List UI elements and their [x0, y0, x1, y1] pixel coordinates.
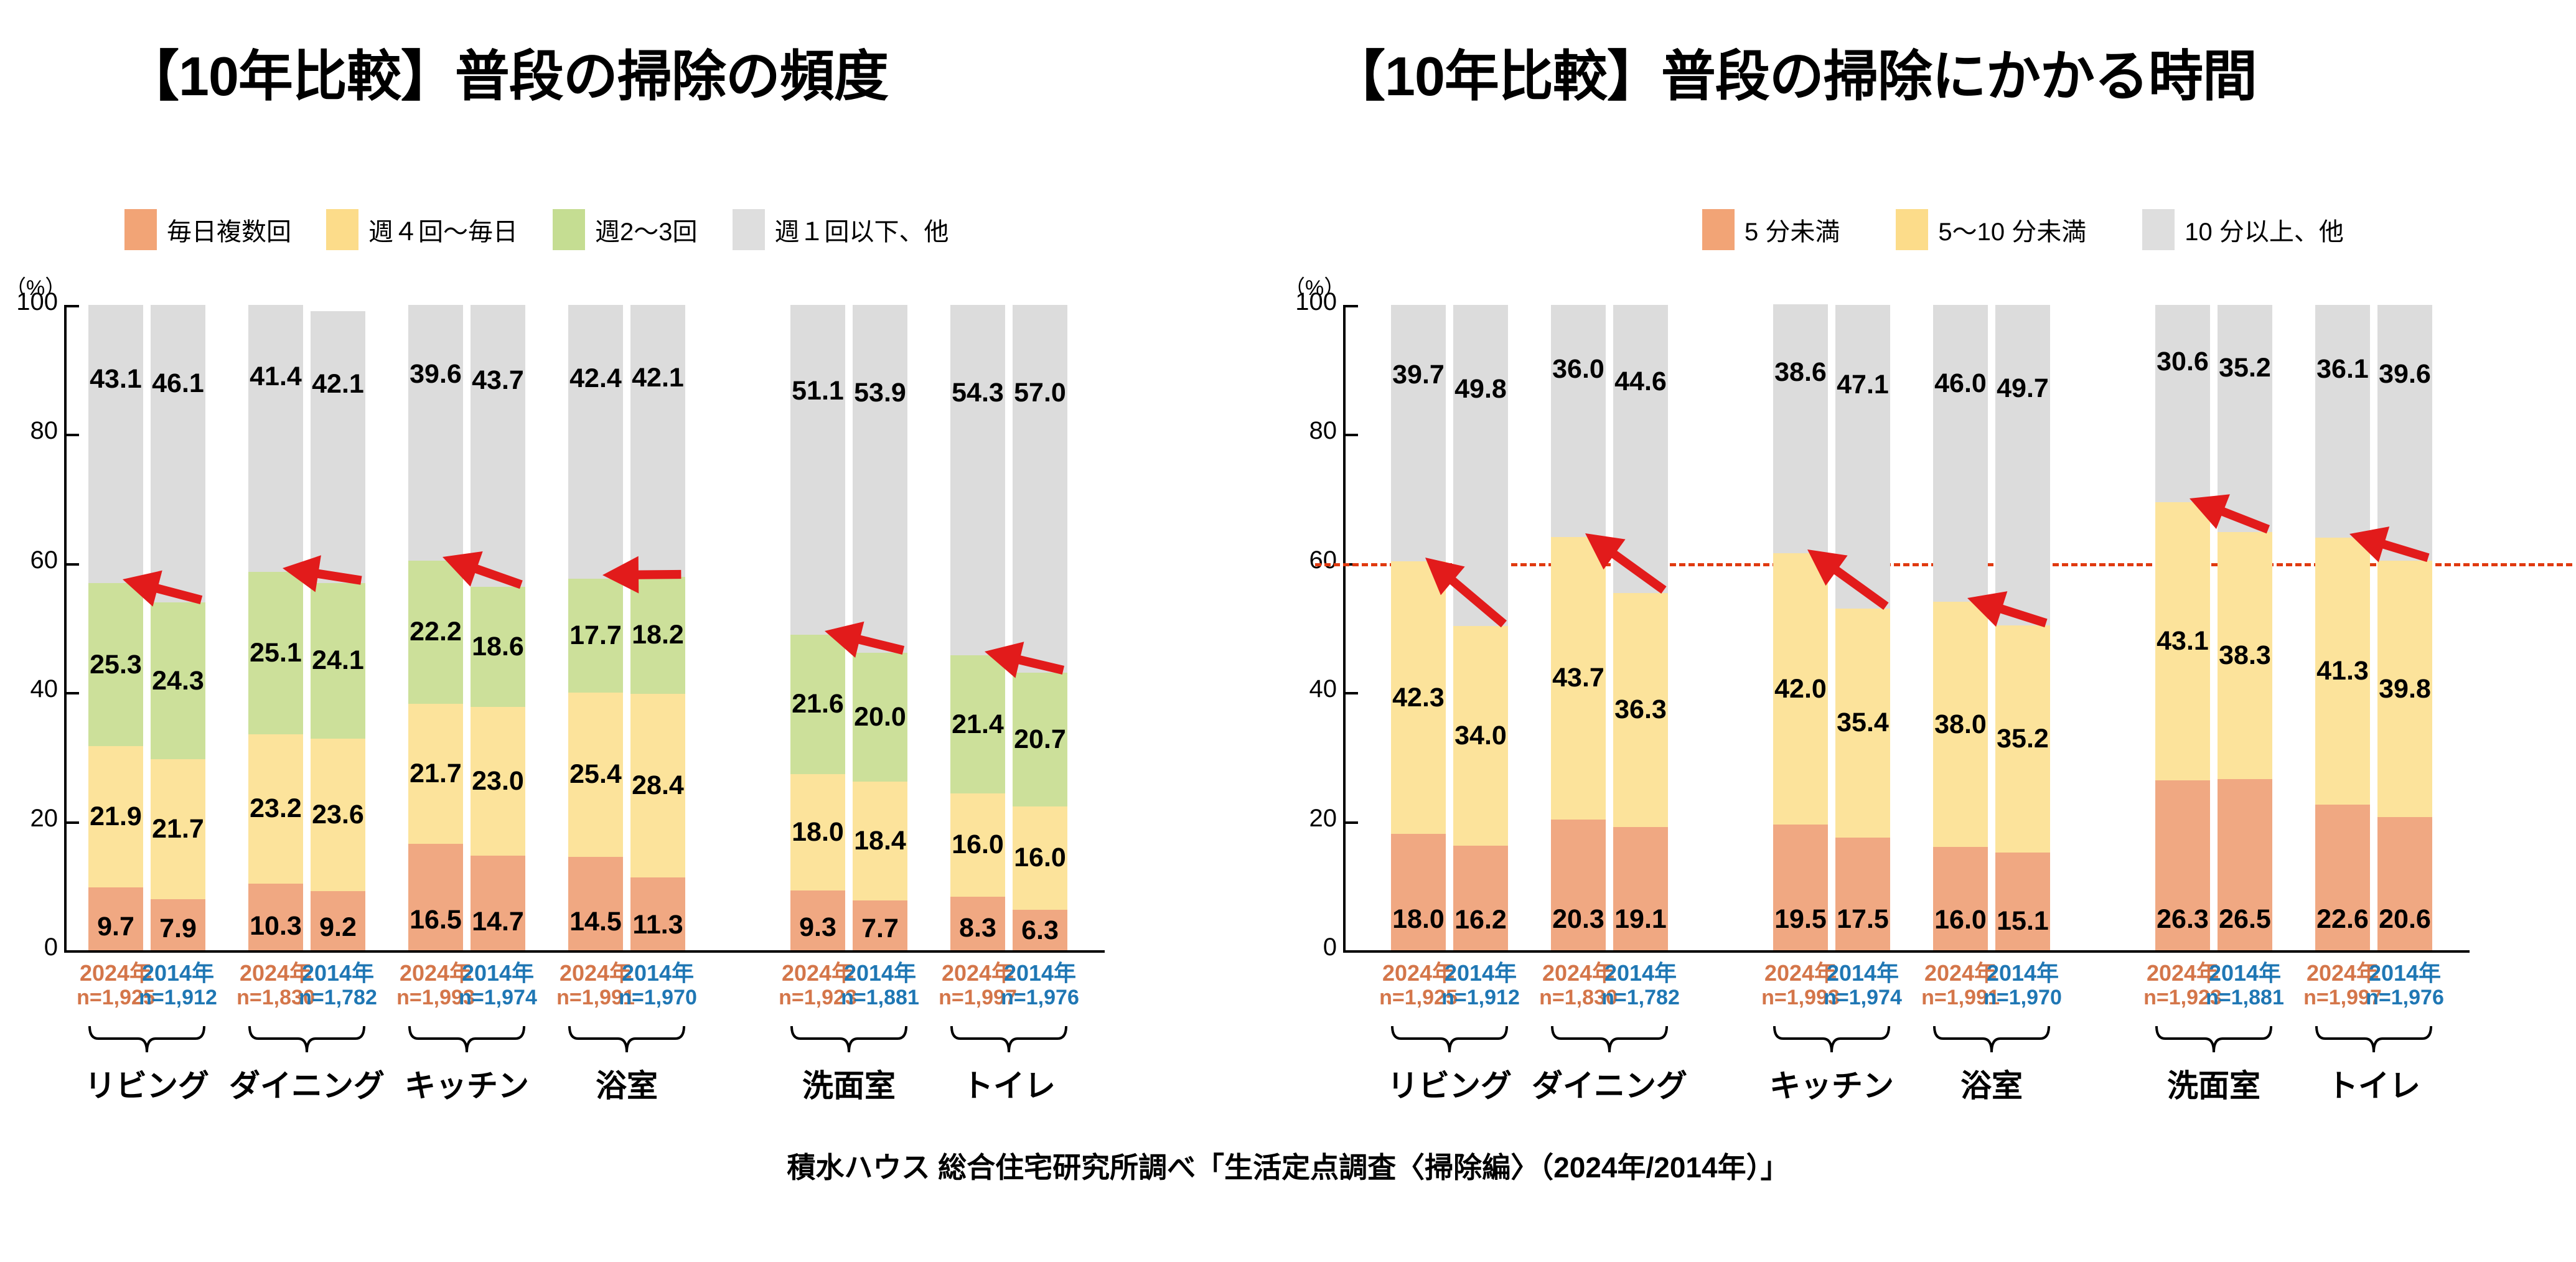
- bar-segment: 42.1: [311, 311, 365, 583]
- bar-segment: 36.3: [1613, 593, 1668, 827]
- x-axis-column-label: 2014年n=1,782: [1594, 960, 1687, 1010]
- legend-item-right-1: 5〜10 分未満: [1896, 209, 2086, 250]
- legend-swatch-icon: [1702, 209, 1735, 250]
- bar-segment: 38.3: [2218, 532, 2272, 779]
- bar-segment: 16.2: [1453, 846, 1508, 950]
- infographic-root: 【10年比較】普段の掃除の頻度 【10年比較】普段の掃除にかかる時間 毎日複数回…: [0, 0, 2576, 1262]
- stacked-bar: 20.343.736.0: [1551, 305, 1606, 950]
- bar-segment: 35.2: [2218, 305, 2272, 532]
- bar-segment: 28.4: [630, 694, 685, 877]
- bar-segment-value: 53.9: [854, 380, 906, 406]
- category-name-label: ダイニング: [1514, 1061, 1705, 1106]
- bar-segment-value: 43.7: [472, 367, 524, 394]
- x-axis-sample-size-label: n=1,782: [291, 986, 385, 1010]
- bar-segment: 9.2: [311, 891, 365, 950]
- bar-segment-value: 19.1: [1614, 906, 1667, 933]
- bar-segment: 39.8: [2377, 561, 2432, 818]
- x-axis-line: [1343, 950, 2470, 953]
- bar-segment-value: 20.0: [854, 704, 906, 731]
- bar-segment-value: 38.0: [1934, 711, 1987, 738]
- bar-segment: 35.4: [1835, 609, 1890, 837]
- x-axis-year-label: 2014年: [131, 960, 225, 986]
- x-axis-column-label: 2014年n=1,782: [291, 960, 385, 1010]
- legend-item-left-2: 週2〜3回: [553, 209, 698, 250]
- x-axis-column-label: 2014年n=1,912: [131, 960, 225, 1010]
- legend-item-label: 5〜10 分未満: [1938, 212, 2086, 248]
- bar-segment: 16.0: [1013, 806, 1067, 910]
- category-brace: [1773, 1022, 1890, 1061]
- bar-segment-value: 42.4: [569, 365, 622, 392]
- bar-segment-value: 36.3: [1614, 696, 1667, 723]
- x-axis-sample-size-label: n=1,976: [2358, 986, 2452, 1010]
- y-axis-tick-label: 0: [2, 933, 58, 961]
- y-axis-tick-label: 40: [1281, 675, 1337, 703]
- bar-segment: 38.0: [1933, 602, 1988, 847]
- bar-segment: 41.3: [2315, 538, 2370, 804]
- source-note: 積水ハウス 総合住宅研究所調べ「生活定点調査〈掃除編〉（2024年/2014年）…: [0, 1145, 2576, 1186]
- bar-segment: 16.5: [408, 844, 463, 950]
- x-axis-year-label: 2014年: [993, 960, 1087, 986]
- x-axis-sample-size-label: n=1,881: [2198, 986, 2292, 1010]
- stacked-bar: 26.343.130.6: [2155, 305, 2210, 950]
- stacked-bar: 16.234.049.8: [1453, 305, 1508, 950]
- stacked-bar: 15.135.249.7: [1995, 305, 2050, 950]
- bar-segment: 30.6: [2155, 305, 2210, 502]
- y-axis-tick-label: 40: [2, 675, 58, 703]
- x-axis-year-label: 2014年: [1976, 960, 2069, 986]
- bar-segment-value: 51.1: [792, 378, 844, 404]
- bar-segment-value: 23.0: [472, 768, 524, 795]
- bar-segment: 49.8: [1453, 305, 1508, 626]
- stacked-bar: 16.521.722.239.6: [408, 305, 463, 950]
- bar-segment: 25.4: [568, 693, 623, 856]
- stacked-bar: 18.042.339.7: [1391, 305, 1446, 950]
- x-axis-year-label: 2014年: [1594, 960, 1687, 986]
- x-axis-sample-size-label: n=1,976: [993, 986, 1087, 1010]
- y-axis-tick: [1343, 821, 1358, 824]
- bar-segment: 25.3: [88, 583, 143, 746]
- bar-segment: 14.7: [471, 856, 525, 950]
- bar-segment: 42.3: [1391, 561, 1446, 834]
- stacked-bar: 9.721.925.343.1: [88, 305, 143, 950]
- legend-item-label: 週１回以下、他: [775, 212, 949, 248]
- bar-segment: 21.7: [151, 759, 205, 899]
- bar-segment: 42.4: [568, 305, 623, 579]
- stacked-bar: 22.641.336.1: [2315, 305, 2370, 950]
- bar-segment: 16.0: [950, 793, 1005, 897]
- bar-segment-value: 18.6: [472, 633, 524, 660]
- bar-segment-value: 22.2: [410, 619, 462, 645]
- y-axis-line: [1343, 305, 1346, 953]
- y-axis-tick: [64, 563, 79, 566]
- bar-segment-value: 21.4: [952, 711, 1004, 738]
- left-chart-plot: （%）1008060402009.721.925.343.17.921.724.…: [0, 268, 1288, 1077]
- bar-segment: 20.0: [853, 653, 907, 782]
- bar-segment: 15.1: [1995, 853, 2050, 950]
- bar-segment-value: 16.2: [1454, 907, 1507, 933]
- bar-segment: 8.3: [950, 897, 1005, 950]
- category-brace: [2315, 1022, 2432, 1061]
- bar-segment-value: 22.6: [2316, 906, 2369, 933]
- bar-segment: 53.9: [853, 305, 907, 653]
- category-name-label: 浴室: [531, 1061, 723, 1106]
- bar-segment-value: 41.3: [2316, 658, 2369, 685]
- bar-segment: 39.6: [408, 305, 463, 561]
- category-brace: [408, 1022, 525, 1061]
- bar-segment: 42.0: [1773, 553, 1828, 825]
- bar-segment-value: 24.1: [312, 647, 364, 674]
- y-axis-tick: [64, 821, 79, 824]
- bar-segment: 43.1: [2155, 502, 2210, 780]
- bar-segment: 7.7: [853, 900, 907, 950]
- bar-segment-value: 44.6: [1614, 368, 1667, 395]
- bar-segment-value: 43.1: [90, 366, 142, 393]
- bar-segment-value: 42.1: [312, 371, 364, 398]
- bar-segment-value: 25.3: [90, 652, 142, 678]
- bar-segment: 18.2: [630, 577, 685, 694]
- legend-item-right-0: 5 分未満: [1702, 209, 1840, 250]
- y-axis-tick-label: 100: [1281, 288, 1337, 316]
- bar-segment-value: 24.3: [152, 668, 204, 694]
- bar-segment-value: 46.1: [152, 370, 204, 397]
- legend-swatch-icon: [1896, 209, 1928, 250]
- bar-segment-value: 42.0: [1774, 676, 1827, 703]
- bar-segment-value: 42.1: [632, 365, 684, 391]
- left-chart-legend: 毎日複数回週４回〜毎日週2〜3回週１回以下、他: [124, 209, 984, 250]
- category-name-label: 浴室: [1896, 1061, 2087, 1106]
- legend-item-label: 毎日複数回: [167, 212, 291, 248]
- y-axis-tick: [1343, 434, 1358, 436]
- bar-segment: 21.4: [950, 655, 1005, 793]
- y-axis-tick-label: 0: [1281, 933, 1337, 961]
- x-axis-sample-size-label: n=1,974: [451, 986, 545, 1010]
- stacked-bar: 14.525.417.742.4: [568, 305, 623, 950]
- bar-segment: 43.7: [1551, 537, 1606, 819]
- bar-segment: 39.6: [2377, 305, 2432, 561]
- bar-segment: 42.1: [630, 305, 685, 577]
- x-axis-year-label: 2014年: [1816, 960, 1909, 986]
- bar-segment-value: 26.3: [2157, 906, 2209, 933]
- category-brace: [950, 1022, 1067, 1061]
- bar-segment-value: 46.0: [1934, 370, 1987, 397]
- x-axis-year-label: 2014年: [2198, 960, 2292, 986]
- bar-segment-value: 20.6: [2379, 906, 2431, 933]
- category-brace: [1933, 1022, 2050, 1061]
- category-name-label: トイレ: [913, 1061, 1105, 1106]
- bar-segment-value: 14.5: [569, 909, 622, 935]
- bar-segment: 54.3: [950, 305, 1005, 655]
- bar-segment-value: 39.6: [2379, 361, 2431, 388]
- stacked-bar: 19.542.038.6: [1773, 305, 1828, 950]
- bar-segment-value: 21.9: [90, 803, 142, 830]
- bar-segment: 17.5: [1835, 838, 1890, 950]
- bar-segment-value: 18.0: [1392, 906, 1445, 933]
- x-axis-line: [64, 950, 1105, 953]
- right-chart-title: 【10年比較】普段の掃除にかかる時間: [1331, 32, 2257, 111]
- bar-segment-value: 26.5: [2219, 906, 2271, 933]
- bar-segment-value: 10.3: [250, 913, 302, 940]
- bar-segment: 35.2: [1995, 625, 2050, 853]
- bar-segment-value: 18.2: [632, 622, 684, 648]
- bar-segment: 46.0: [1933, 305, 1988, 602]
- stacked-bar: 9.223.624.142.1: [311, 305, 365, 950]
- bar-segment: 22.2: [408, 561, 463, 704]
- x-axis-sample-size-label: n=1,970: [611, 986, 705, 1010]
- bar-segment-value: 25.1: [250, 640, 302, 666]
- bar-segment: 7.9: [151, 899, 205, 950]
- stacked-bar: 20.639.839.6: [2377, 305, 2432, 950]
- x-axis-sample-size-label: n=1,881: [833, 986, 927, 1010]
- bar-segment-value: 25.4: [569, 761, 622, 788]
- bar-segment-value: 43.7: [1552, 665, 1604, 691]
- legend-item-left-3: 週１回以下、他: [733, 209, 949, 250]
- bar-segment: 25.1: [248, 572, 303, 734]
- bar-segment-value: 9.7: [97, 914, 134, 940]
- bar-segment-value: 30.6: [2157, 348, 2209, 375]
- bar-segment: 46.1: [151, 305, 205, 602]
- stacked-bar: 7.718.420.053.9: [853, 305, 907, 950]
- bar-segment: 23.2: [248, 734, 303, 884]
- y-axis-tick-label: 80: [2, 417, 58, 445]
- bar-segment: 57.0: [1013, 305, 1067, 673]
- y-axis-tick-label: 80: [1281, 417, 1337, 445]
- legend-item-left-0: 毎日複数回: [124, 209, 291, 250]
- legend-item-left-1: 週４回〜毎日: [326, 209, 518, 250]
- bar-segment-value: 16.0: [1014, 844, 1066, 871]
- bar-segment-value: 54.3: [952, 380, 1004, 406]
- bar-segment-value: 16.0: [952, 831, 1004, 858]
- bar-segment: 36.1: [2315, 305, 2370, 538]
- legend-swatch-icon: [124, 209, 157, 250]
- bar-segment-value: 39.6: [410, 361, 462, 388]
- bar-segment-value: 38.6: [1774, 359, 1827, 386]
- bar-segment-value: 15.1: [1997, 908, 2049, 935]
- bar-segment: 10.3: [248, 884, 303, 950]
- bar-segment-value: 9.3: [799, 914, 836, 941]
- category-brace: [790, 1022, 907, 1061]
- x-axis-column-label: 2014年n=1,976: [993, 960, 1087, 1010]
- x-axis-year-label: 2014年: [833, 960, 927, 986]
- bar-segment-value: 11.3: [632, 912, 683, 938]
- x-axis-column-label: 2014年n=1,970: [611, 960, 705, 1010]
- stacked-bar: 10.323.225.141.4: [248, 305, 303, 950]
- bar-segment-value: 7.9: [159, 915, 197, 942]
- bar-segment-value: 14.7: [472, 909, 524, 935]
- bar-segment: 41.4: [248, 305, 303, 572]
- bar-segment: 43.7: [471, 305, 525, 587]
- x-axis-column-label: 2014年n=1,912: [1434, 960, 1527, 1010]
- bar-segment: 20.7: [1013, 673, 1067, 806]
- x-axis-year-label: 2014年: [291, 960, 385, 986]
- bar-segment-value: 18.4: [854, 828, 906, 854]
- bar-segment: 18.6: [471, 587, 525, 707]
- legend-item-label: 5 分未満: [1745, 212, 1840, 248]
- category-brace: [1551, 1022, 1668, 1061]
- stacked-bar: 14.723.018.643.7: [471, 305, 525, 950]
- bar-segment: 22.6: [2315, 805, 2370, 950]
- legend-swatch-icon: [326, 209, 358, 250]
- y-axis-tick-label: 60: [2, 546, 58, 574]
- y-axis-tick-label: 60: [1281, 546, 1337, 574]
- legend-swatch-icon: [733, 209, 765, 250]
- right-chart-legend: 5 分未満5〜10 分未満10 分以上、他: [1702, 209, 2400, 250]
- stacked-bar: 8.316.021.454.3: [950, 305, 1005, 950]
- bar-segment: 43.1: [88, 305, 143, 583]
- x-axis-year-label: 2014年: [451, 960, 545, 986]
- legend-item-right-2: 10 分以上、他: [2142, 209, 2344, 250]
- bar-segment-value: 20.7: [1014, 726, 1066, 753]
- bar-segment-value: 19.5: [1774, 906, 1827, 933]
- bar-segment: 20.3: [1551, 820, 1606, 951]
- bar-segment: 9.3: [790, 890, 845, 950]
- bar-segment-value: 42.3: [1392, 685, 1445, 711]
- category-brace: [88, 1022, 205, 1061]
- bar-segment-value: 35.4: [1837, 709, 1889, 736]
- y-axis-line: [64, 305, 67, 953]
- bar-segment-value: 43.1: [2157, 628, 2209, 655]
- left-chart-title: 【10年比較】普段の掃除の頻度: [124, 32, 888, 111]
- legend-swatch-icon: [553, 209, 585, 250]
- stacked-bar: 19.136.344.6: [1613, 305, 1668, 950]
- bar-segment-value: 20.3: [1552, 906, 1604, 933]
- bar-segment-value: 21.7: [152, 816, 204, 843]
- bar-segment-value: 49.8: [1454, 376, 1507, 403]
- x-axis-year-label: 2014年: [1434, 960, 1527, 986]
- x-axis-year-label: 2014年: [2358, 960, 2452, 986]
- x-axis-column-label: 2014年n=1,970: [1976, 960, 2069, 1010]
- bar-segment-value: 57.0: [1014, 380, 1066, 406]
- bar-segment-value: 49.7: [1997, 375, 2049, 402]
- x-axis-column-label: 2014年n=1,974: [451, 960, 545, 1010]
- bar-segment: 26.3: [2155, 780, 2210, 950]
- bar-segment-value: 39.8: [2379, 676, 2431, 703]
- bar-segment: 18.4: [853, 782, 907, 900]
- category-brace: [248, 1022, 365, 1061]
- category-brace: [1391, 1022, 1508, 1061]
- bar-segment: 23.0: [471, 707, 525, 856]
- bar-segment-value: 28.4: [632, 772, 684, 799]
- x-axis-sample-size-label: n=1,974: [1816, 986, 1909, 1010]
- x-axis-sample-size-label: n=1,912: [1434, 986, 1527, 1010]
- bar-segment-value: 47.1: [1837, 372, 1889, 398]
- bar-segment: 11.3: [630, 877, 685, 950]
- x-axis-column-label: 2014年n=1,976: [2358, 960, 2452, 1010]
- stacked-bar: 6.316.020.757.0: [1013, 305, 1067, 950]
- bar-segment: 49.7: [1995, 305, 2050, 625]
- bar-segment-value: 41.4: [250, 363, 302, 390]
- bar-segment: 36.0: [1551, 305, 1606, 537]
- category-brace: [2155, 1022, 2272, 1061]
- bar-segment: 9.7: [88, 887, 143, 950]
- bar-segment-value: 36.1: [2316, 356, 2369, 383]
- category-name-label: トイレ: [2278, 1061, 2470, 1106]
- bar-segment-value: 17.5: [1837, 906, 1889, 933]
- bar-segment-value: 35.2: [2219, 355, 2271, 381]
- bar-segment: 26.5: [2218, 779, 2272, 950]
- bar-segment-value: 23.2: [250, 795, 302, 822]
- stacked-bar: 16.038.046.0: [1933, 305, 1988, 950]
- bar-segment-value: 9.2: [319, 914, 357, 941]
- bar-segment-value: 7.7: [861, 915, 899, 942]
- x-axis-year-label: 2014年: [611, 960, 705, 986]
- bar-segment-value: 34.0: [1454, 722, 1507, 749]
- y-axis-tick: [64, 434, 79, 436]
- y-axis-tick-label: 100: [2, 288, 58, 316]
- bar-segment: 21.7: [408, 704, 463, 844]
- bar-segment-value: 35.2: [1997, 726, 2049, 752]
- bar-segment: 16.0: [1933, 847, 1988, 950]
- x-axis-sample-size-label: n=1,970: [1976, 986, 2069, 1010]
- y-axis-tick: [1343, 305, 1358, 307]
- bar-segment: 20.6: [2377, 817, 2432, 950]
- bar-segment: 39.7: [1391, 305, 1446, 561]
- bar-segment-value: 18.0: [792, 819, 844, 846]
- bar-segment: 24.1: [311, 583, 365, 739]
- bar-segment-value: 38.3: [2219, 642, 2271, 669]
- bar-segment: 6.3: [1013, 910, 1067, 950]
- bar-segment: 21.9: [88, 746, 143, 887]
- legend-item-label: 週４回〜毎日: [368, 212, 518, 248]
- x-axis-sample-size-label: n=1,782: [1594, 986, 1687, 1010]
- category-brace: [568, 1022, 685, 1061]
- x-axis-column-label: 2014年n=1,881: [2198, 960, 2292, 1010]
- right-chart-plot: （%）10080604020018.042.339.716.234.049.82…: [1288, 268, 2576, 1077]
- stacked-bar: 9.318.021.651.1: [790, 305, 845, 950]
- bar-segment: 17.7: [568, 579, 623, 693]
- bar-segment-value: 16.5: [410, 907, 462, 933]
- bar-segment: 47.1: [1835, 305, 1890, 609]
- bar-segment-value: 39.7: [1392, 362, 1445, 388]
- bar-segment: 38.6: [1773, 304, 1828, 553]
- bar-segment: 44.6: [1613, 305, 1668, 593]
- bar-segment: 34.0: [1453, 626, 1508, 846]
- x-axis-sample-size-label: n=1,912: [131, 986, 225, 1010]
- bar-segment-value: 36.0: [1552, 356, 1604, 383]
- bar-segment-value: 6.3: [1021, 917, 1059, 944]
- bar-segment: 14.5: [568, 857, 623, 950]
- bar-segment-value: 23.6: [312, 802, 364, 828]
- y-axis-tick: [1343, 692, 1358, 694]
- legend-item-label: 週2〜3回: [595, 212, 698, 248]
- bar-segment-value: 8.3: [959, 915, 996, 942]
- bar-segment: 51.1: [790, 305, 845, 635]
- bar-segment: 18.0: [790, 774, 845, 890]
- bar-segment: 18.0: [1391, 834, 1446, 950]
- bar-segment: 19.1: [1613, 827, 1668, 950]
- bar-segment: 24.3: [151, 602, 205, 759]
- bar-segment: 19.5: [1773, 825, 1828, 950]
- bar-segment-value: 17.7: [569, 622, 622, 649]
- stacked-bar: 7.921.724.346.1: [151, 305, 205, 950]
- x-axis-column-label: 2014年n=1,881: [833, 960, 927, 1010]
- bar-segment: 21.6: [790, 635, 845, 774]
- legend-swatch-icon: [2142, 209, 2175, 250]
- bar-segment: 23.6: [311, 739, 365, 891]
- stacked-bar: 26.538.335.2: [2218, 305, 2272, 950]
- y-axis-tick: [64, 305, 79, 307]
- bar-segment-value: 21.6: [792, 691, 844, 717]
- stacked-bar: 17.535.447.1: [1835, 305, 1890, 950]
- x-axis-column-label: 2014年n=1,974: [1816, 960, 1909, 1010]
- bar-segment-value: 16.0: [1934, 907, 1987, 933]
- y-axis-tick-label: 20: [2, 805, 58, 833]
- y-axis-tick-label: 20: [1281, 805, 1337, 833]
- y-axis-tick: [64, 692, 79, 694]
- bar-segment-value: 21.7: [410, 760, 462, 787]
- stacked-bar: 11.328.418.242.1: [630, 305, 685, 950]
- legend-item-label: 10 分以上、他: [2185, 212, 2344, 248]
